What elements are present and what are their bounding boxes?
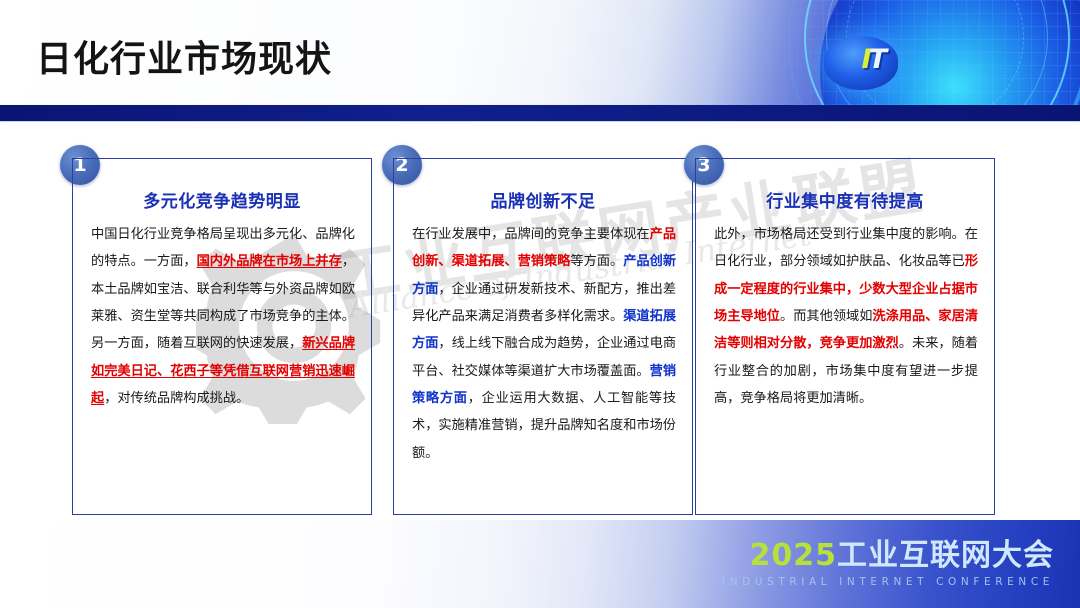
text-segment: 等方面。: [570, 254, 623, 269]
conference-year: 2025: [750, 538, 838, 573]
conference-logo: 2025工业互联网大会 INDUSTRIAL INTERNET CONFEREN…: [722, 541, 1054, 588]
card-3: 行业集中度有待提高 此外，市场格局还受到行业集中度的影响。在日化行业，部分领域如…: [695, 158, 995, 515]
slide-footer: 2025工业互联网大会 INDUSTRIAL INTERNET CONFEREN…: [0, 520, 1080, 608]
text-segment: ，线上线下融合成为趋势，企业通过电商平台、社交媒体等渠道扩大市场覆盖面。: [412, 336, 676, 378]
card-1-title: 多元化竞争趋势明显: [73, 187, 371, 212]
text-segment: 此外，市场格局还受到行业集中度的影响。在日化行业，部分领域如护肤品、化妆品等已: [714, 227, 978, 269]
card-2: 品牌创新不足 在行业发展中，品牌间的竞争主要体现在产品创新、渠道拓展、营销策略等…: [393, 158, 693, 515]
card-1: 多元化竞争趋势明显 中国日化行业竞争格局呈现出多元化、品牌化的特点。一方面，国内…: [72, 158, 372, 515]
text-segment: 国内外品牌在市场上并存: [197, 254, 342, 269]
conference-logo-main: 2025工业互联网大会: [722, 541, 1054, 571]
card-3-title: 行业集中度有待提高: [696, 187, 994, 212]
card-3-body: 此外，市场格局还受到行业集中度的影响。在日化行业，部分领域如护肤品、化妆品等已形…: [714, 221, 978, 412]
card-1-body: 中国日化行业竞争格局呈现出多元化、品牌化的特点。一方面，国内外品牌在市场上并存，…: [91, 221, 355, 412]
text-segment: 。而其他领域如: [780, 309, 872, 324]
text-segment: 在行业发展中，品牌间的竞争主要体现在: [412, 227, 650, 242]
card-2-title: 品牌创新不足: [394, 187, 692, 212]
text-segment: ，对传统品牌构成挑战。: [104, 391, 249, 406]
conference-name-en: INDUSTRIAL INTERNET CONFERENCE: [722, 576, 1054, 588]
card-2-body: 在行业发展中，品牌间的竞争主要体现在产品创新、渠道拓展、营销策略等方面。产品创新…: [412, 221, 676, 467]
content-cards: 1 多元化竞争趋势明显 中国日化行业竞争格局呈现出多元化、品牌化的特点。一方面，…: [0, 0, 1080, 608]
conference-name-cn: 工业互联网大会: [837, 538, 1054, 573]
